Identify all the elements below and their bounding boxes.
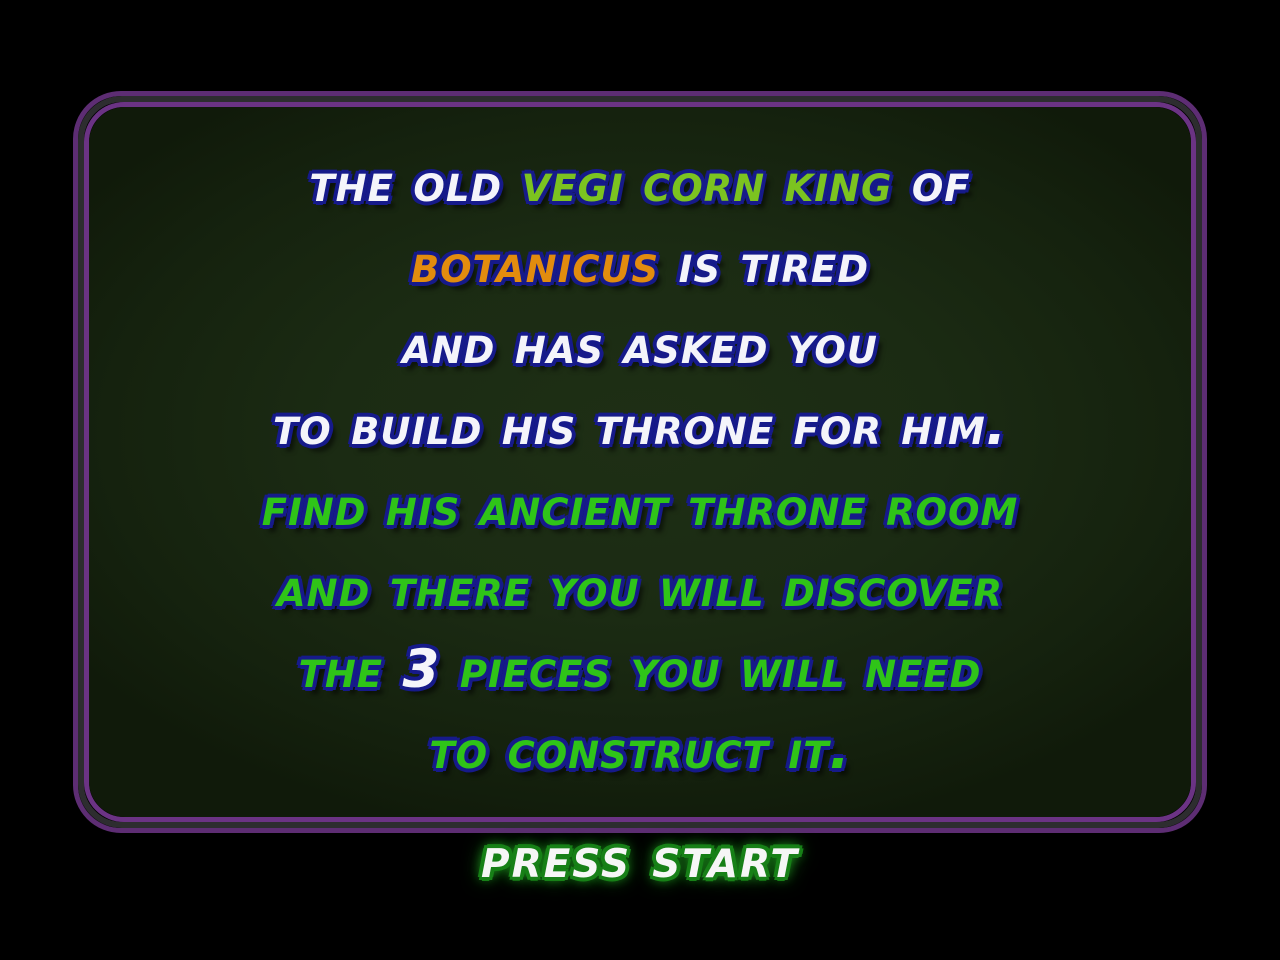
story-word: has [515, 315, 604, 376]
story-word: ancient [480, 477, 669, 538]
press-start-prompt[interactable]: Press Start [0, 826, 1280, 890]
story-line: the 3 pieces you will need [89, 629, 1191, 710]
story-word: construct [508, 720, 769, 781]
story-word: you [550, 558, 640, 619]
story-word: will [659, 558, 765, 619]
story-word: and [402, 315, 495, 376]
story-line: and there you will discover [89, 548, 1191, 629]
story-word: Vegi [522, 153, 624, 214]
story-line: The old Vegi Corn King of [89, 143, 1191, 224]
story-word: need [865, 639, 981, 700]
story-word: of [912, 153, 971, 214]
story-line: and has asked you [89, 305, 1191, 386]
story-word: room [886, 477, 1018, 538]
story-word: you [788, 315, 878, 376]
story-word: there [390, 558, 530, 619]
story-word: build [351, 396, 482, 457]
story-word: for [794, 396, 882, 457]
story-word: is [679, 234, 721, 295]
story-word: you [631, 639, 721, 700]
story-line: to construct it. [89, 710, 1191, 791]
story-word: tired [741, 234, 869, 295]
story-word: The [309, 153, 393, 214]
story-line: to build his throne for him. [89, 386, 1191, 467]
story-word: 3 [403, 639, 441, 700]
story-line: Botanicus is tired [89, 224, 1191, 305]
story-word: his [386, 477, 460, 538]
story-word: discover [784, 558, 1003, 619]
story-line: Find his ancient throne room [89, 467, 1191, 548]
story-word: asked [624, 315, 769, 376]
story-word: Botanicus [411, 234, 659, 295]
game-screen: The old Vegi Corn King ofBotanicus is ti… [0, 0, 1280, 960]
story-word: to [429, 720, 488, 781]
story-word: it. [788, 720, 850, 781]
story-word: to [273, 396, 332, 457]
story-text-block: The old Vegi Corn King ofBotanicus is ti… [89, 107, 1191, 817]
story-word: pieces [460, 639, 611, 700]
story-word: and [277, 558, 370, 619]
story-word: throne [688, 477, 866, 538]
story-word: him. [901, 396, 1007, 457]
story-word: old [413, 153, 502, 214]
story-word: Find [262, 477, 367, 538]
story-word: the [299, 639, 383, 700]
story-word: Corn [643, 153, 765, 214]
story-word: King [785, 153, 893, 214]
story-word: throne [596, 396, 774, 457]
story-word: his [502, 396, 576, 457]
story-word: will [740, 639, 846, 700]
